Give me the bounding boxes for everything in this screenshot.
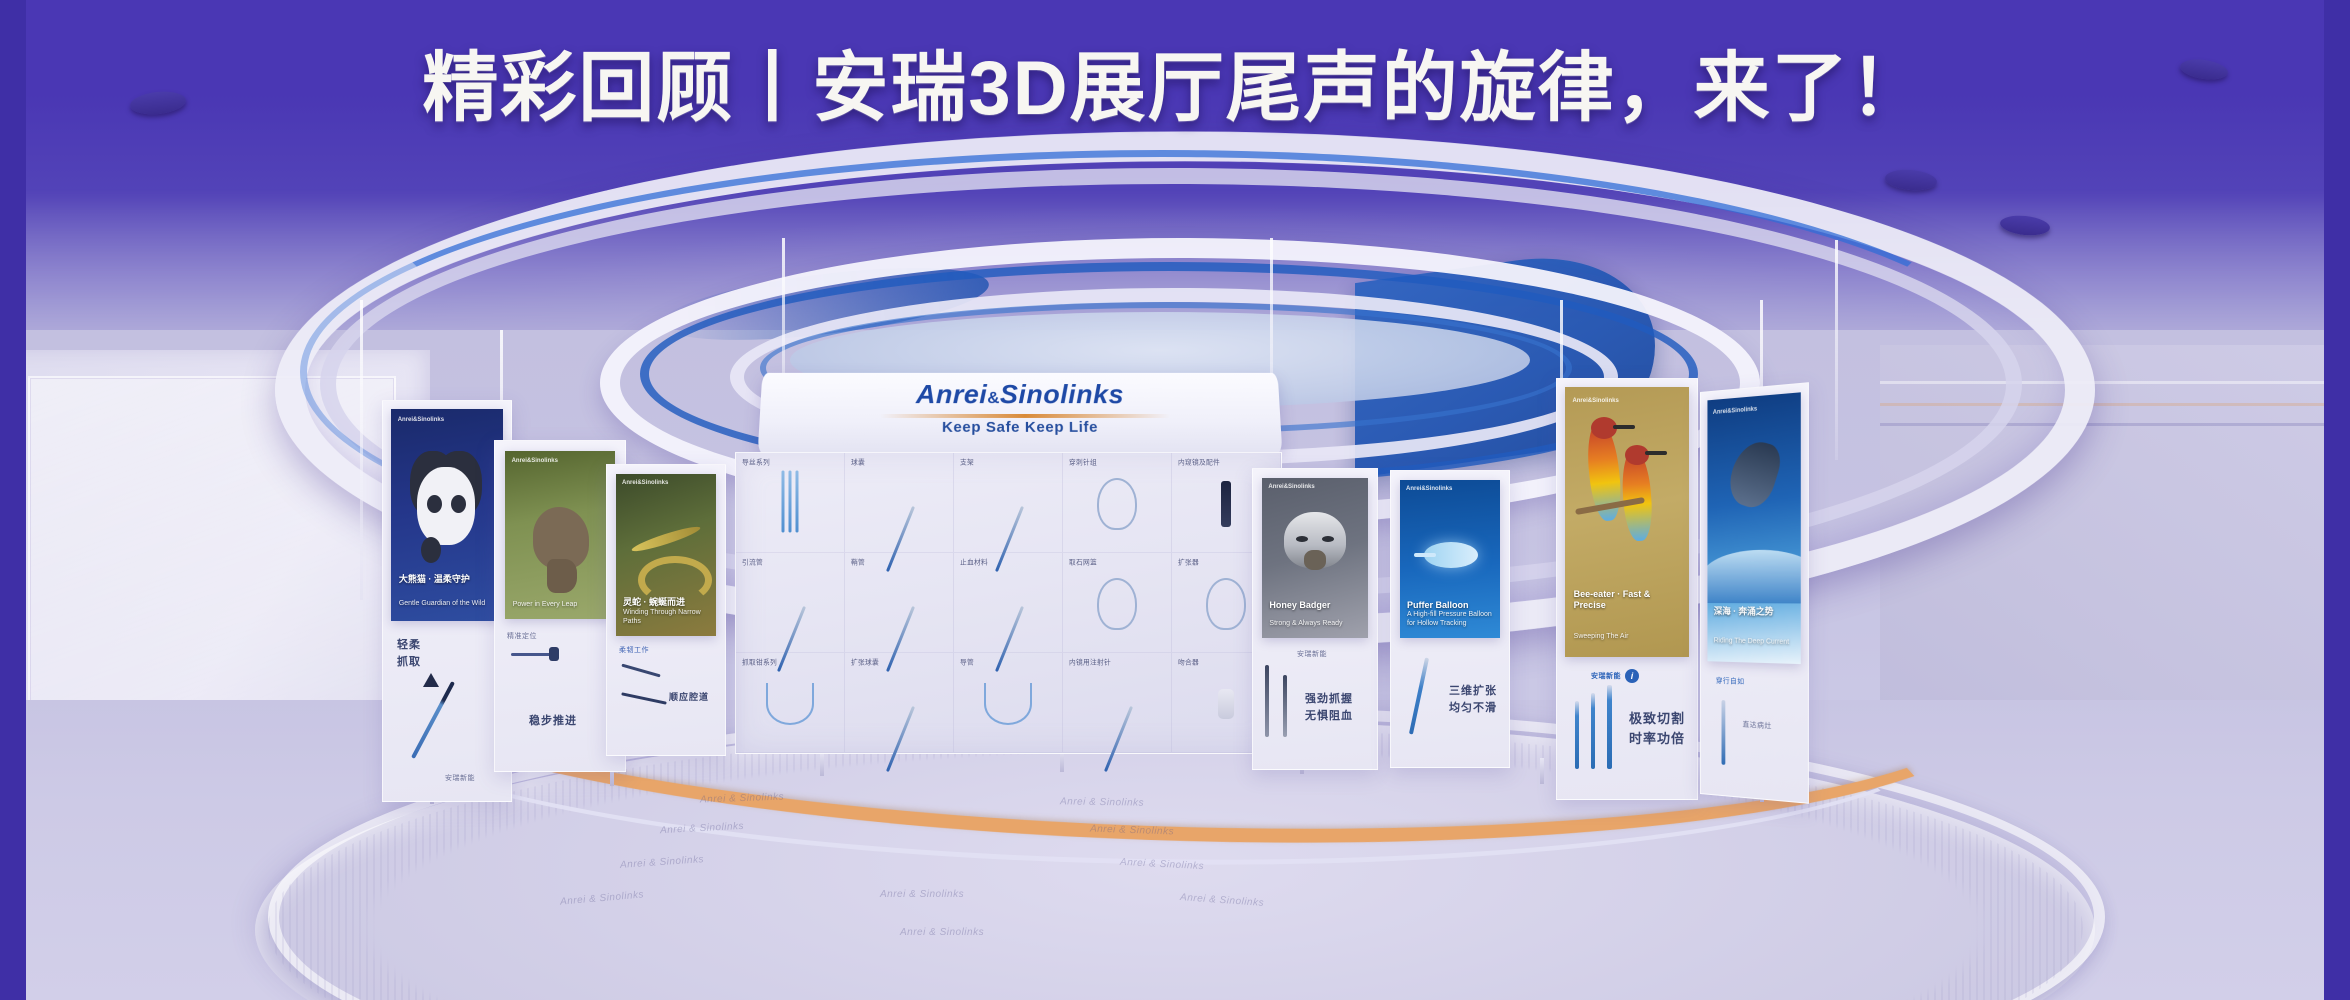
panel-device-illustration bbox=[621, 664, 660, 678]
product-cell[interactable]: 导管 bbox=[954, 653, 1063, 753]
panel-device-illustration bbox=[1591, 693, 1595, 769]
brand-logo: Anrei&Sinolinks bbox=[760, 380, 1280, 410]
poster-subtitle: Gentle Guardian of the Wild bbox=[399, 599, 495, 608]
product-label: 扩张器 bbox=[1178, 558, 1199, 568]
display-panel-ocean[interactable]: Anrei&Sinolinks 深海 · 奔涌之势 Riding The Dee… bbox=[1700, 382, 1809, 804]
product-cell[interactable]: 球囊 bbox=[845, 453, 954, 553]
product-cell[interactable]: 鞘管 bbox=[845, 553, 954, 653]
floor-inscription: Anrei & Sinolinks bbox=[1060, 796, 1144, 808]
poster-brand-mark: Anrei&Sinolinks bbox=[622, 480, 668, 486]
honey-badger-eye-left bbox=[1296, 536, 1308, 542]
honey-badger-eye-right bbox=[1322, 536, 1334, 542]
panel-device-illustration bbox=[1265, 665, 1269, 737]
poster-brand-mark: Anrei&Sinolinks bbox=[1406, 486, 1452, 492]
product-label: 支架 bbox=[960, 458, 974, 468]
product-label: 导管 bbox=[960, 658, 974, 668]
caption-line-1: 强劲抓握 bbox=[1305, 691, 1353, 708]
product-cell[interactable]: 扩张球囊 bbox=[845, 653, 954, 753]
brand-swoosh-underline bbox=[880, 414, 1170, 418]
poster-bee-eater[interactable]: Anrei&Sinolinks Bee-eater · Fast & Preci… bbox=[1565, 387, 1689, 657]
right-wall-line-2 bbox=[1880, 403, 2350, 406]
device-icon-endoscope bbox=[1221, 481, 1231, 527]
exhibition-hall-scene: Anrei & Sinolinks Anrei & Sinolinks Anre… bbox=[0, 0, 2350, 1000]
product-cell[interactable]: 引流管 bbox=[736, 553, 845, 653]
panel-caption-bottom: 三维扩张 均匀不滑 bbox=[1449, 683, 1497, 716]
poster-brand-mark: Anrei&Sinolinks bbox=[398, 417, 444, 423]
right-wall-line-1 bbox=[1880, 381, 2350, 384]
railing-post bbox=[1540, 758, 1544, 784]
snake-body bbox=[630, 523, 702, 555]
bee-eater-bird-2-head bbox=[1625, 445, 1649, 465]
ocean-wave bbox=[1707, 549, 1800, 604]
product-cell[interactable]: 支架 bbox=[954, 453, 1063, 553]
display-panel-bee-eater[interactable]: Anrei&Sinolinks Bee-eater · Fast & Preci… bbox=[1556, 378, 1698, 800]
panel-caption-bottom: 顺应腔道 bbox=[669, 691, 709, 705]
device-icon-dilator bbox=[1206, 578, 1246, 630]
eagle-silhouette bbox=[1724, 437, 1786, 513]
poster-honey-badger[interactable]: Anrei&Sinolinks Honey Badger Strong & Al… bbox=[1262, 478, 1368, 638]
poster-brand-mark: Anrei&Sinolinks bbox=[1572, 398, 1618, 404]
panel-device-illustration bbox=[1722, 700, 1726, 765]
caption-line-2: 时率功倍 bbox=[1629, 729, 1685, 749]
panel-caption: 安瑞新能 bbox=[1297, 649, 1327, 659]
panel-caption: 轻柔 抓取 bbox=[397, 637, 421, 670]
poster-panda[interactable]: Anrei&Sinolinks 大熊猫 · 温柔守护 Gentle Guardi… bbox=[391, 409, 503, 621]
product-label: 内镜用注射针 bbox=[1069, 658, 1111, 668]
caption-line-2: 抓取 bbox=[397, 654, 421, 671]
panel-caption-bottom: 极致切割 时率功倍 bbox=[1629, 709, 1685, 748]
device-icon-guidewire bbox=[780, 471, 801, 538]
device-icon-stone-basket bbox=[1097, 578, 1137, 630]
brand-tagline: Keep Safe Keep Life bbox=[759, 419, 1282, 436]
product-label: 内窥镜及配件 bbox=[1178, 458, 1220, 468]
product-label: 抓取钳系列 bbox=[742, 658, 777, 668]
panel-device-illustration bbox=[621, 692, 667, 704]
panda-eye-right bbox=[451, 495, 466, 513]
panel-device-illustration bbox=[411, 681, 455, 759]
poster-brand-mark: Anrei&Sinolinks bbox=[1713, 407, 1757, 417]
panel-footnote: 安瑞新能 bbox=[445, 773, 475, 783]
poster-title: 灵蛇 · 蜿蜒而进 bbox=[623, 597, 709, 608]
panel-device-illustration bbox=[1283, 675, 1287, 737]
right-wall-line-3 bbox=[1880, 423, 2350, 426]
panel-caption-bottom: 强劲抓握 无惧阻血 bbox=[1305, 691, 1353, 724]
hanging-rod bbox=[360, 300, 363, 600]
bee-eater-bird-1-beak bbox=[1613, 425, 1635, 429]
left-border-strip bbox=[0, 0, 26, 1000]
panda-arm bbox=[421, 537, 441, 563]
poster-subtitle: Sweeping The Air bbox=[1574, 632, 1681, 641]
brand-ampersand: & bbox=[987, 388, 1000, 407]
caption-line-1: 精准定位 bbox=[507, 633, 537, 640]
caption-line-1: 柔韧工作 bbox=[619, 647, 649, 654]
panel-device-tip bbox=[423, 673, 439, 687]
product-label: 扩张球囊 bbox=[851, 658, 879, 668]
caption-line-1: 穿行自如 bbox=[1716, 678, 1745, 686]
poster-eagle-ocean[interactable]: Anrei&Sinolinks 深海 · 奔涌之势 Riding The Dee… bbox=[1707, 392, 1800, 664]
poster-title: 大熊猫 · 温柔守护 bbox=[399, 574, 495, 585]
poster-subtitle: Riding The Deep Current bbox=[1714, 637, 1794, 648]
caption-top: 安瑞新能 bbox=[1297, 651, 1327, 658]
info-icon: i bbox=[1625, 669, 1639, 683]
device-icon-stapler bbox=[1218, 689, 1234, 719]
display-panel-snake[interactable]: Anrei&Sinolinks 灵蛇 · 蜿蜒而进 Winding Throug… bbox=[606, 464, 726, 756]
product-label: 引流管 bbox=[742, 558, 763, 568]
product-cell[interactable]: 内镜用注射针 bbox=[1063, 653, 1172, 753]
panel-device-illustration bbox=[549, 647, 559, 661]
honey-badger-snout bbox=[1304, 550, 1326, 570]
poster-subtitle: Power in Every Leap bbox=[513, 600, 608, 609]
panel-caption-bottom: 稳步推进 bbox=[529, 713, 577, 730]
bee-eater-bird-2-beak bbox=[1645, 451, 1667, 455]
product-cell[interactable]: 取石网篮 bbox=[1063, 553, 1172, 653]
product-label: 导丝系列 bbox=[742, 458, 770, 468]
caption-line-1: 轻柔 bbox=[397, 637, 421, 654]
product-label: 止血材料 bbox=[960, 558, 988, 568]
device-icon-grasping-forceps bbox=[766, 683, 814, 725]
page-title: 精彩回顾丨安瑞3D展厅尾声的旋律，来了！ bbox=[0, 26, 2350, 136]
brand-name-sinolinks: Sinolinks bbox=[1000, 380, 1124, 409]
device-icon-catheter bbox=[984, 683, 1032, 725]
panel-device-illustration bbox=[1409, 657, 1429, 734]
panda-illustration bbox=[417, 467, 475, 545]
poster-subtitle: Winding Through Narrow Paths bbox=[623, 608, 709, 626]
medical-device-display-wall: 导丝系列 球囊 支架 穿刺针组 内窥镜及配件 引流管 鞘管 止血材料 取石网篮 … bbox=[735, 452, 1282, 754]
poster-brand-mark: Anrei&Sinolinks bbox=[512, 458, 558, 464]
poster-kangaroo[interactable]: Anrei&Sinolinks Power in Every Leap bbox=[505, 451, 615, 619]
product-label: 穿刺针组 bbox=[1069, 458, 1097, 468]
product-label: 球囊 bbox=[851, 458, 865, 468]
hanging-rod bbox=[1835, 240, 1838, 460]
product-cell[interactable]: 导丝系列 bbox=[736, 453, 845, 553]
floor-inscription: Anrei & Sinolinks bbox=[880, 889, 964, 900]
poster-subtitle: Strong & Always Ready bbox=[1269, 619, 1360, 628]
brand-header-band: Anrei&Sinolinks Keep Safe Keep Life bbox=[758, 373, 1283, 454]
poster-puffer-balloon[interactable]: Anrei&Sinolinks Puffer Balloon A High-fi… bbox=[1400, 480, 1500, 638]
product-cell[interactable]: 穿刺针组 bbox=[1063, 453, 1172, 553]
poster-title: Honey Badger bbox=[1269, 600, 1360, 611]
poster-subtitle: A High-fill Pressure Balloon for Hollow … bbox=[1407, 610, 1493, 628]
panel-caption: 柔韧工作 bbox=[619, 645, 649, 655]
panel-caption-bottom: 直达病灶 bbox=[1743, 719, 1772, 731]
poster-snake[interactable]: Anrei&Sinolinks 灵蛇 · 蜿蜒而进 Winding Throug… bbox=[616, 474, 716, 636]
caption-line-1: 三维扩张 bbox=[1449, 683, 1497, 700]
device-icon-needle-set bbox=[1097, 478, 1137, 530]
kangaroo-leg bbox=[547, 559, 577, 593]
product-cell[interactable]: 止血材料 bbox=[954, 553, 1063, 653]
poster-brand-mark: Anrei&Sinolinks bbox=[1268, 484, 1314, 490]
product-label: 吻合器 bbox=[1178, 658, 1199, 668]
display-panel-honey-badger[interactable]: Anrei&Sinolinks Honey Badger Strong & Al… bbox=[1252, 468, 1378, 770]
puffer-catheter-shaft bbox=[1414, 553, 1436, 557]
caption-line-2: 顺应腔道 bbox=[669, 692, 709, 702]
product-label: 取石网篮 bbox=[1069, 558, 1097, 568]
panel-caption: 精准定位 bbox=[507, 631, 537, 641]
poster-title: 深海 · 奔涌之势 bbox=[1714, 606, 1794, 618]
panda-eye-left bbox=[427, 495, 442, 513]
caption-line-1: 极致切割 bbox=[1629, 709, 1685, 729]
caption-line-2: 无惧阻血 bbox=[1305, 708, 1353, 725]
right-border-strip bbox=[2324, 0, 2350, 1000]
poster-title: Bee-eater · Fast & Precise bbox=[1574, 589, 1681, 612]
panel-device-illustration bbox=[1607, 685, 1612, 769]
panel-device-illustration bbox=[1575, 701, 1579, 769]
panel-brand-text: 安瑞新能 bbox=[1591, 671, 1621, 681]
panel-caption: 穿行自如 bbox=[1716, 676, 1745, 687]
caption-line-2: 直达病灶 bbox=[1743, 721, 1772, 730]
product-label: 鞘管 bbox=[851, 558, 865, 568]
panel-brand-row: 安瑞新能 i bbox=[1591, 669, 1639, 683]
display-panel-puffer-balloon[interactable]: Anrei&Sinolinks Puffer Balloon A High-fi… bbox=[1390, 470, 1510, 768]
display-panel-panda[interactable]: Anrei&Sinolinks 大熊猫 · 温柔守护 Gentle Guardi… bbox=[382, 400, 512, 802]
caption-line-2: 均匀不滑 bbox=[1449, 700, 1497, 717]
brand-name-anrei: Anrei bbox=[916, 380, 988, 409]
floor-inscription: Anrei & Sinolinks bbox=[900, 927, 984, 938]
product-cell[interactable]: 抓取钳系列 bbox=[736, 653, 845, 753]
